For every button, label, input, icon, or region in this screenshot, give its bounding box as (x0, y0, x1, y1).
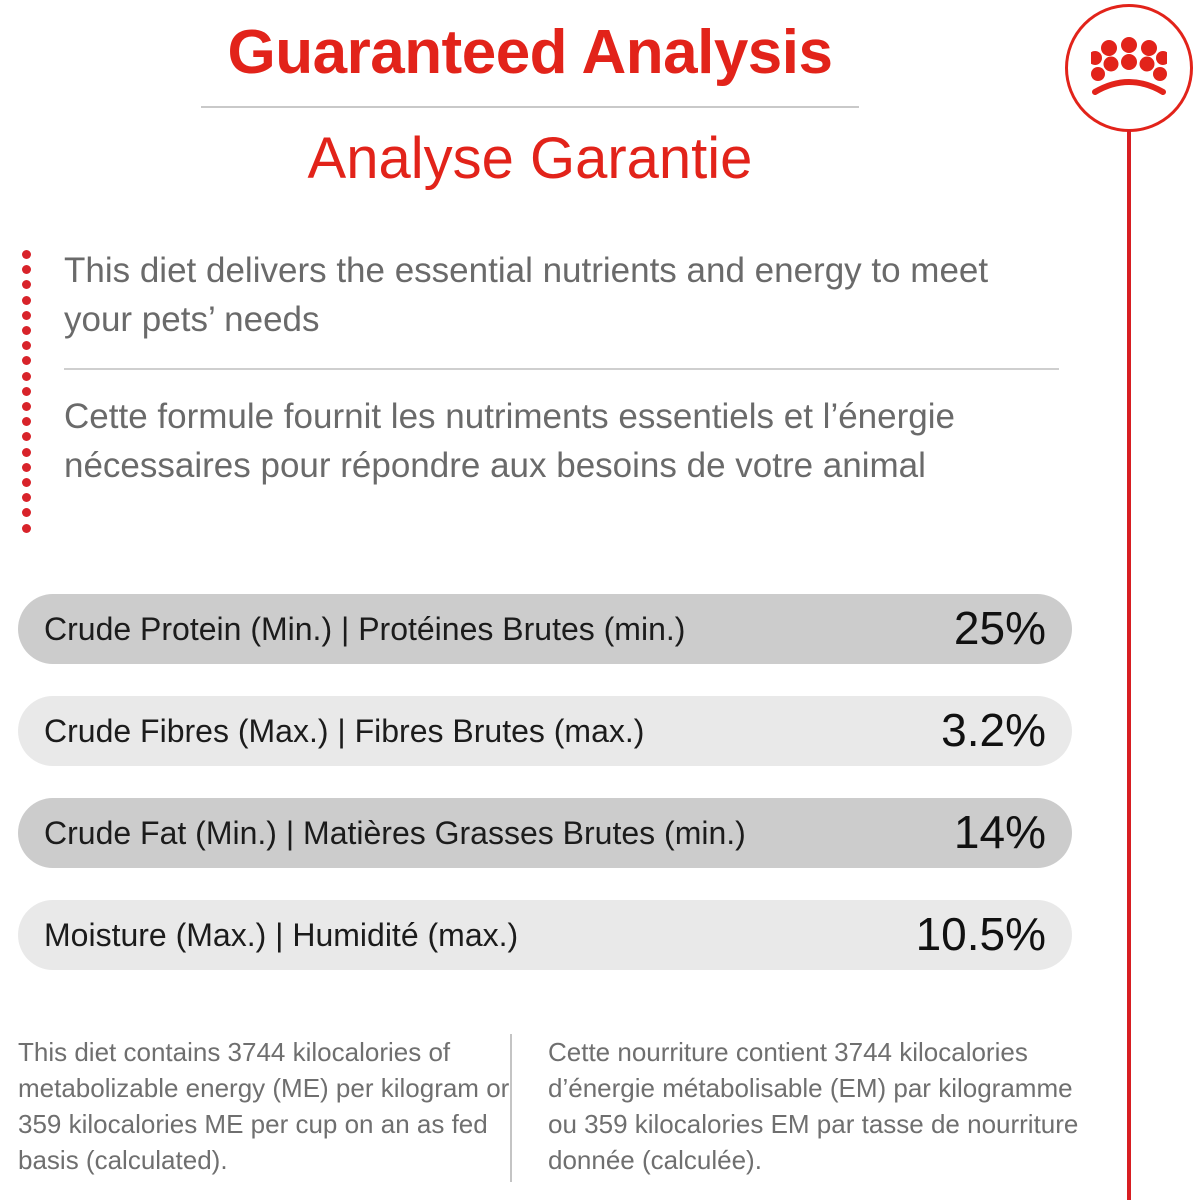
footer-section: This diet contains 3744 kilocalories of … (18, 1034, 1128, 1182)
rail-dot (22, 280, 31, 289)
nutrient-label: Crude Fat (Min.) | Matières Grasses Brut… (44, 817, 954, 849)
intro-divider (64, 368, 1059, 370)
rail-dot (22, 296, 31, 305)
nutrient-label: Moisture (Max.) | Humidité (max.) (44, 919, 916, 951)
brand-logo (1065, 4, 1200, 139)
intro-text-english: This diet delivers the essential nutrien… (64, 246, 1064, 344)
rail-dot (22, 326, 31, 335)
intro-section: This diet delivers the essential nutrien… (64, 246, 1064, 490)
intro-text-french: Cette formule fournit les nutriments ess… (64, 392, 1064, 490)
rail-dot (22, 265, 31, 274)
rail-dot (22, 478, 31, 487)
nutrient-row: Crude Fat (Min.) | Matières Grasses Brut… (18, 798, 1072, 868)
rail-dot (22, 387, 31, 396)
footer-text-english: This diet contains 3744 kilocalories of … (18, 1034, 510, 1182)
nutrient-value: 3.2% (941, 707, 1046, 755)
nutrient-label: Crude Fibres (Max.) | Fibres Brutes (max… (44, 715, 941, 747)
rail-dot (22, 356, 31, 365)
nutrient-row: Crude Fibres (Max.) | Fibres Brutes (max… (18, 696, 1072, 766)
rail-dot (22, 508, 31, 517)
rail-dot (22, 463, 31, 472)
nutrient-row: Crude Protein (Min.) | Protéines Brutes … (18, 594, 1072, 664)
nutrient-label: Crude Protein (Min.) | Protéines Brutes … (44, 613, 954, 645)
rail-dot (22, 402, 31, 411)
rail-dot (22, 417, 31, 426)
guaranteed-analysis-panel: Guaranteed Analysis Analyse Garantie Thi… (0, 0, 1200, 1200)
nutrient-row: Moisture (Max.) | Humidité (max.)10.5% (18, 900, 1072, 970)
rail-dot (22, 341, 31, 350)
footer-text-french: Cette nourriture contient 3744 kilocalor… (512, 1034, 1092, 1182)
page-title-english: Guaranteed Analysis (0, 0, 1060, 84)
nutrient-value: 10.5% (916, 911, 1046, 959)
nutrient-table: Crude Protein (Min.) | Protéines Brutes … (18, 594, 1072, 1002)
rail-dot (22, 372, 31, 381)
rail-dot (22, 311, 31, 320)
rail-dot (22, 250, 31, 259)
crown-icon (1091, 34, 1167, 96)
dotted-rail (22, 250, 32, 530)
nutrient-value: 14% (954, 809, 1046, 857)
header: Guaranteed Analysis Analyse Garantie (0, 0, 1060, 188)
rail-dot (22, 432, 31, 441)
rail-dot (22, 524, 31, 533)
rail-dot (22, 448, 31, 457)
nutrient-value: 25% (954, 605, 1046, 653)
page-title-french: Analyse Garantie (0, 108, 1060, 188)
rail-dot (22, 493, 31, 502)
